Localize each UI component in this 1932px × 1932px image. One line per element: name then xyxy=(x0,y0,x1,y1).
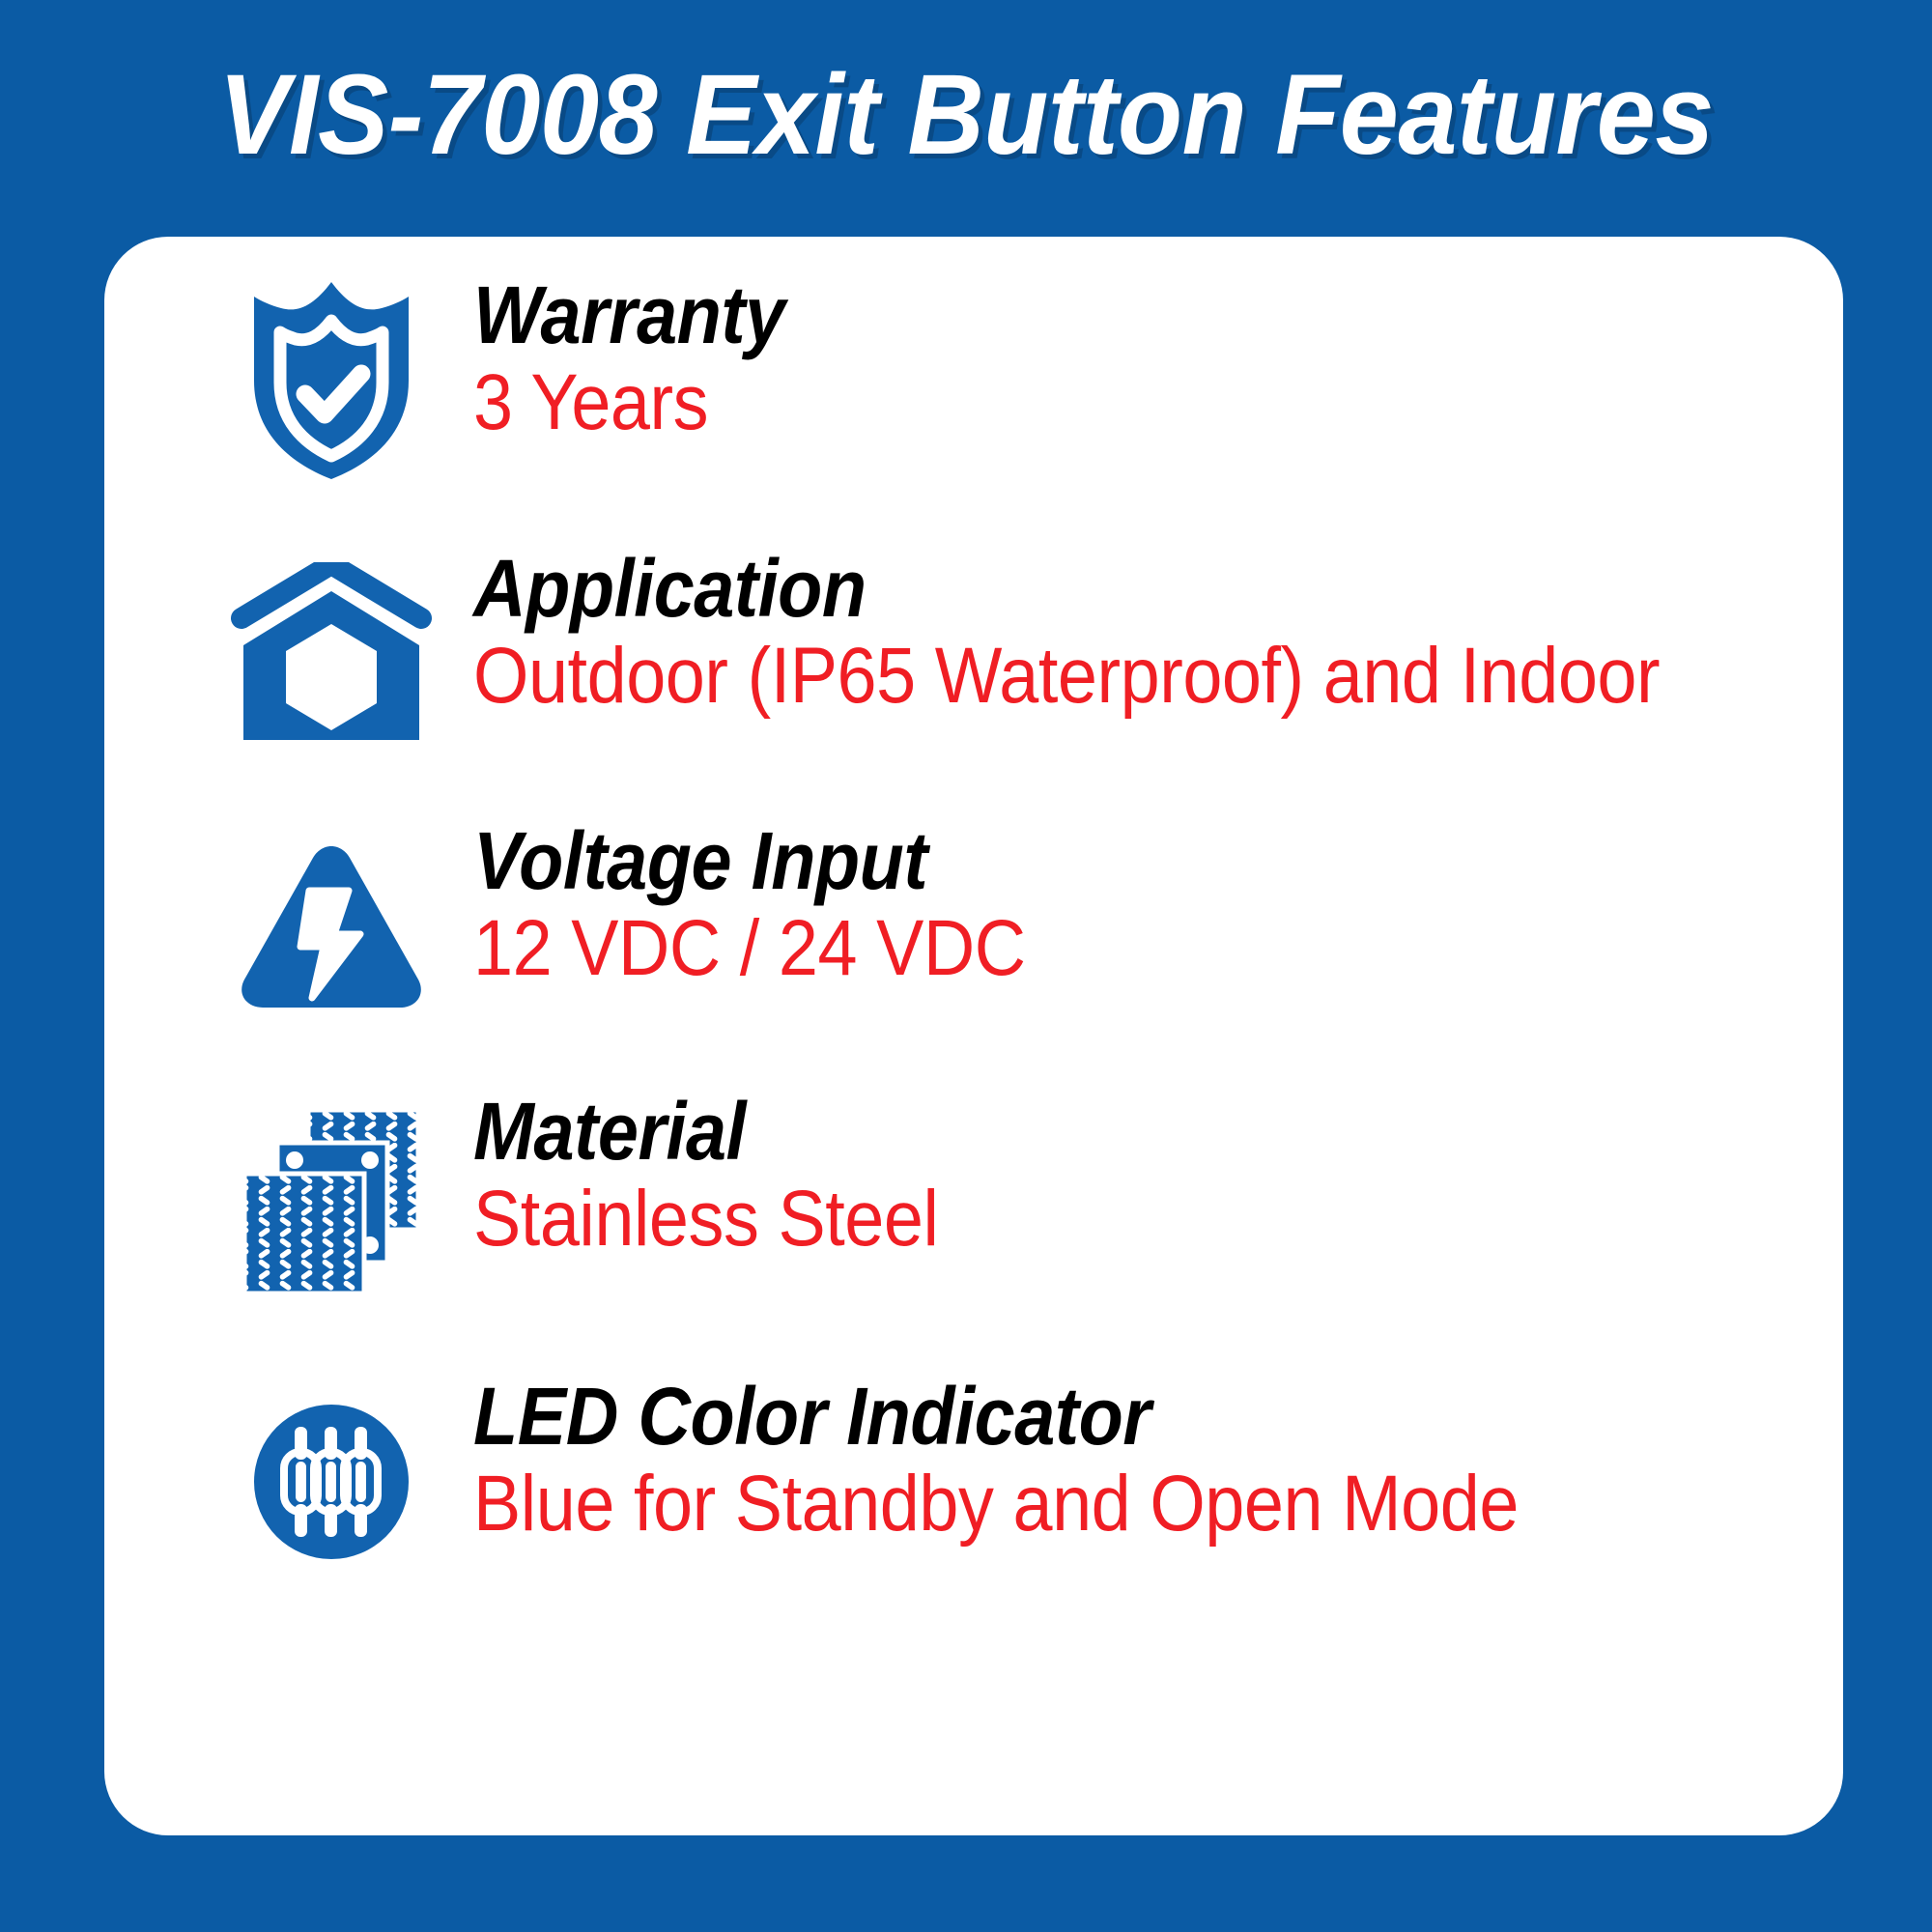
lightning-triangle-icon xyxy=(211,816,452,1024)
feature-value: 12 VDC / 24 VDC xyxy=(473,907,1680,989)
feature-label: Application xyxy=(473,548,1680,631)
feature-label: LED Color Indicator xyxy=(473,1376,1680,1459)
feature-label: Material xyxy=(473,1091,1680,1174)
feature-text: Warranty 3 Years xyxy=(452,270,1814,443)
feature-label: Voltage Input xyxy=(473,820,1680,903)
feature-text: Application Outdoor (IP65 Waterproof) an… xyxy=(452,544,1814,717)
feature-row: Voltage Input 12 VDC / 24 VDC xyxy=(211,816,1814,1058)
feature-row: LED Color Indicator Blue for Standby and… xyxy=(211,1372,1814,1613)
feature-text: LED Color Indicator Blue for Standby and… xyxy=(452,1372,1814,1545)
page-title-bar: VIS-7008 Exit Button Features xyxy=(0,43,1932,187)
infographic-page: VIS-7008 Exit Button Features Warranty 3… xyxy=(0,0,1932,1932)
page-title: VIS-7008 Exit Button Features xyxy=(218,58,1714,172)
shield-check-icon xyxy=(211,270,452,478)
feature-value: 3 Years xyxy=(473,361,1680,443)
feature-row: Material Stainless Steel xyxy=(211,1087,1814,1328)
feature-row: Warranty 3 Years xyxy=(211,270,1814,512)
feature-label: Warranty xyxy=(473,274,1680,357)
feature-row: Application Outdoor (IP65 Waterproof) an… xyxy=(211,544,1814,785)
home-hexagon-icon xyxy=(211,544,452,752)
feature-value: Blue for Standby and Open Mode xyxy=(473,1463,1680,1545)
feature-text: Voltage Input 12 VDC / 24 VDC xyxy=(452,816,1814,989)
feature-value: Stainless Steel xyxy=(473,1178,1680,1260)
feature-text: Material Stainless Steel xyxy=(452,1087,1814,1260)
feature-value: Outdoor (IP65 Waterproof) and Indoor xyxy=(473,635,1680,717)
features-list: Warranty 3 Years Application Outdoor (IP… xyxy=(104,237,1843,1835)
led-indicator-icon xyxy=(211,1372,452,1579)
metal-plates-icon xyxy=(211,1087,452,1294)
features-card: Warranty 3 Years Application Outdoor (IP… xyxy=(104,237,1843,1835)
